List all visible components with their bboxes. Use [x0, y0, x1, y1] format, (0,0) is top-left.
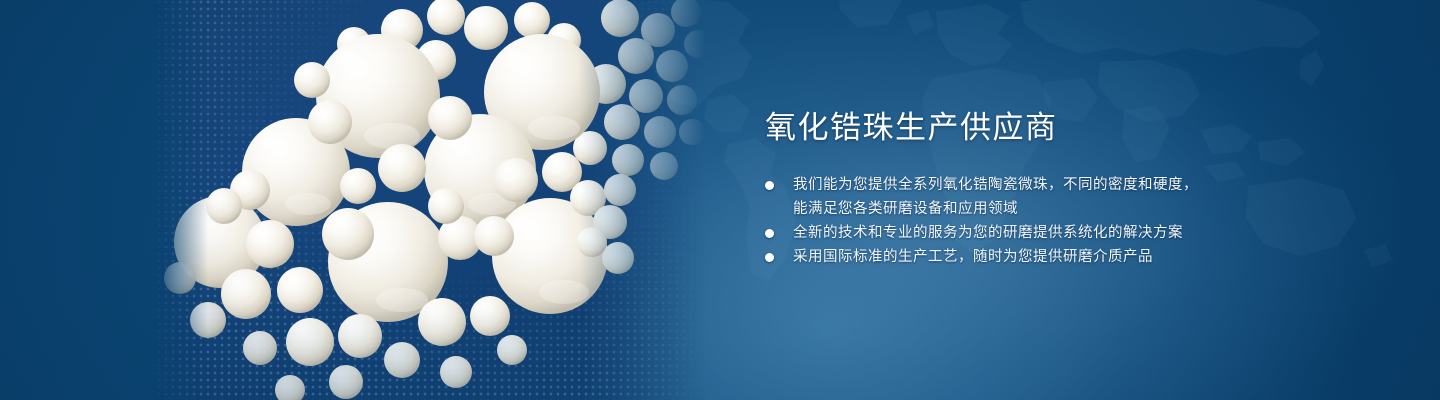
list-item: 采用国际标准的生产工艺，随时为您提供研磨介质产品 — [765, 245, 1385, 269]
banner-copy: 氧化锆珠生产供应商 我们能为您提供全系列氧化锆陶瓷微珠，不同的密度和硬度， 能满… — [765, 108, 1385, 269]
bullet-text-line: 能满足您各类研磨设备和应用领域 — [793, 197, 1385, 221]
list-item: 全新的技术和专业的服务为您的研磨提供系统化的解决方案 — [765, 221, 1385, 245]
hero-banner: 氧化锆珠生产供应商 我们能为您提供全系列氧化锆陶瓷微珠，不同的密度和硬度， 能满… — [0, 0, 1440, 400]
bullet-text-line: 全新的技术和专业的服务为您的研磨提供系统化的解决方案 — [793, 221, 1385, 245]
feature-list: 我们能为您提供全系列氧化锆陶瓷微珠，不同的密度和硬度， 能满足您各类研磨设备和应… — [765, 173, 1385, 269]
dot-bullet-icon — [765, 253, 774, 262]
dot-bullet-icon — [765, 229, 774, 238]
banner-headline: 氧化锆珠生产供应商 — [765, 108, 1385, 148]
list-item: 我们能为您提供全系列氧化锆陶瓷微珠，不同的密度和硬度， 能满足您各类研磨设备和应… — [765, 173, 1385, 221]
bullet-text-line: 采用国际标准的生产工艺，随时为您提供研磨介质产品 — [793, 245, 1385, 269]
bullet-text-line: 我们能为您提供全系列氧化锆陶瓷微珠，不同的密度和硬度， — [793, 173, 1385, 197]
dot-bullet-icon — [765, 181, 774, 190]
